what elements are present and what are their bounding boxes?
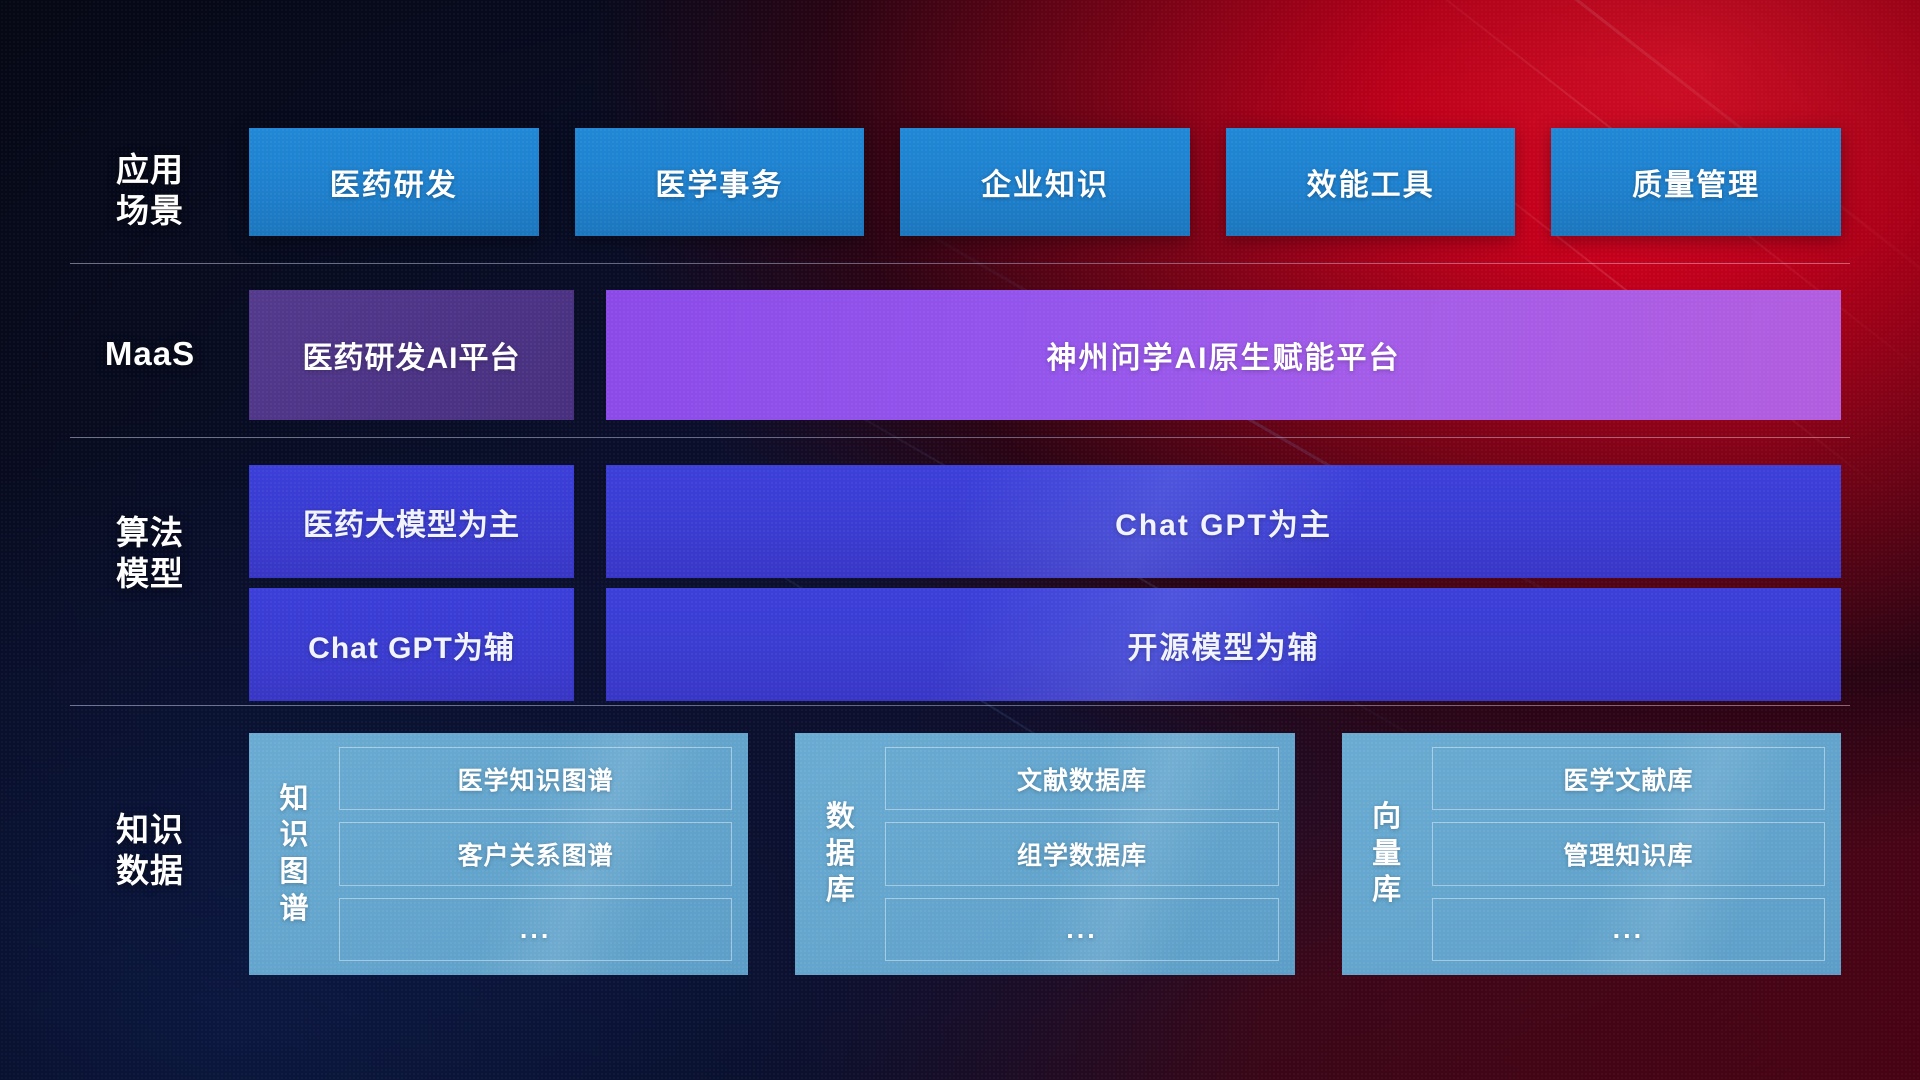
db-label-char-1: 数 xyxy=(826,799,855,836)
algo-box-opensource-secondary-label: 开源模型为辅 xyxy=(1128,623,1320,667)
app-box-efficiency-tools-label: 效能工具 xyxy=(1307,160,1435,204)
vs-label-char-1: 向 xyxy=(1372,799,1401,836)
tier-label-algorithm: 算法 模型 xyxy=(55,513,245,595)
kg-label-char-4: 谱 xyxy=(279,891,308,928)
knowledge-panel-knowledge-graph-items: 医学知识图谱 客户关系图谱 ... xyxy=(339,747,732,961)
app-box-enterprise-knowledge-label: 企业知识 xyxy=(981,160,1109,204)
algo-box-opensource-secondary[interactable]: 开源模型为辅 xyxy=(606,588,1841,701)
app-box-efficiency-tools[interactable]: 效能工具 xyxy=(1226,128,1516,236)
knowledge-panel-vector-store: 向 量 库 医学文献库 管理知识库 ... xyxy=(1342,733,1841,975)
kg-label-char-3: 图 xyxy=(279,854,308,891)
kd-item-medical-literature-store[interactable]: 医学文献库 xyxy=(1432,747,1825,810)
kd-item-literature-database[interactable]: 文献数据库 xyxy=(885,747,1278,810)
vs-label-char-2: 量 xyxy=(1372,836,1401,873)
app-box-enterprise-knowledge[interactable]: 企业知识 xyxy=(900,128,1190,236)
kd-item-customer-relation-graph[interactable]: 客户关系图谱 xyxy=(339,822,732,885)
maas-row: 医药研发AI平台 神州问学AI原生赋能平台 xyxy=(249,290,1841,420)
tier-label-knowledge-line2: 数据 xyxy=(55,851,245,892)
application-scenario-row: 医药研发 医学事务 企业知识 效能工具 质量管理 xyxy=(249,128,1841,236)
knowledge-panel-knowledge-graph-label: 知 识 图 谱 xyxy=(263,747,325,961)
tier-label-application-line1: 应用 xyxy=(55,150,245,191)
knowledge-panel-vector-store-label: 向 量 库 xyxy=(1356,747,1418,961)
tier-label-knowledge: 知识 数据 xyxy=(55,810,245,892)
divider-1 xyxy=(70,263,1850,264)
app-box-medical-affairs[interactable]: 医学事务 xyxy=(575,128,865,236)
diagram-content: 应用 场景 医药研发 医学事务 企业知识 效能工具 质量管理 MaaS 医药研发… xyxy=(0,0,1920,1080)
kg-label-char-1: 知 xyxy=(279,781,308,818)
tier-label-maas: MaaS xyxy=(55,334,245,375)
algo-box-pharma-llm-primary-label: 医药大模型为主 xyxy=(303,500,520,544)
app-box-quality-management[interactable]: 质量管理 xyxy=(1551,128,1841,236)
divider-3 xyxy=(70,705,1850,706)
kd-item-knowledge-graph-more[interactable]: ... xyxy=(339,898,732,961)
tier-label-application: 应用 场景 xyxy=(55,150,245,232)
algo-box-chatgpt-primary[interactable]: Chat GPT为主 xyxy=(606,465,1841,578)
app-box-drug-rd[interactable]: 医药研发 xyxy=(249,128,539,236)
kd-item-management-knowledge-store[interactable]: 管理知识库 xyxy=(1432,822,1825,885)
maas-box-drug-ai-platform-label: 医药研发AI平台 xyxy=(303,333,521,377)
vs-label-char-3: 库 xyxy=(1372,872,1401,909)
tier-label-knowledge-line1: 知识 xyxy=(55,810,245,851)
tier-label-maas-text: MaaS xyxy=(55,334,245,375)
app-box-medical-affairs-label: 医学事务 xyxy=(655,160,783,204)
kd-item-vector-store-more[interactable]: ... xyxy=(1432,898,1825,961)
knowledge-panel-knowledge-graph: 知 识 图 谱 医学知识图谱 客户关系图谱 ... xyxy=(249,733,748,975)
app-box-drug-rd-label: 医药研发 xyxy=(330,160,458,204)
algo-box-pharma-llm-primary[interactable]: 医药大模型为主 xyxy=(249,465,574,578)
kd-item-database-more[interactable]: ... xyxy=(885,898,1278,961)
knowledge-panel-database-label: 数 据 库 xyxy=(809,747,871,961)
algo-box-chatgpt-secondary[interactable]: Chat GPT为辅 xyxy=(249,588,574,701)
knowledge-panel-vector-store-items: 医学文献库 管理知识库 ... xyxy=(1432,747,1825,961)
maas-box-shenzhou-platform-label: 神州问学AI原生赋能平台 xyxy=(1047,333,1401,377)
architecture-diagram-slide: 应用 场景 医药研发 医学事务 企业知识 效能工具 质量管理 MaaS 医药研发… xyxy=(0,0,1920,1080)
app-box-quality-management-label: 质量管理 xyxy=(1632,160,1760,204)
maas-box-drug-ai-platform[interactable]: 医药研发AI平台 xyxy=(249,290,574,420)
algorithm-model-rows: 医药大模型为主 Chat GPT为主 Chat GPT为辅 开源模型为辅 xyxy=(249,465,1841,701)
tier-label-application-line2: 场景 xyxy=(55,191,245,232)
algo-box-chatgpt-secondary-label: Chat GPT为辅 xyxy=(308,623,515,667)
knowledge-panel-database-items: 文献数据库 组学数据库 ... xyxy=(885,747,1278,961)
tier-label-algorithm-line1: 算法 xyxy=(55,513,245,554)
db-label-char-3: 库 xyxy=(826,872,855,909)
divider-2 xyxy=(70,437,1850,438)
algorithm-row-primary: 医药大模型为主 Chat GPT为主 xyxy=(249,465,1841,578)
kg-label-char-2: 识 xyxy=(279,817,308,854)
algorithm-row-secondary: Chat GPT为辅 开源模型为辅 xyxy=(249,588,1841,701)
knowledge-panel-database: 数 据 库 文献数据库 组学数据库 ... xyxy=(795,733,1294,975)
db-label-char-2: 据 xyxy=(826,836,855,873)
maas-box-shenzhou-platform[interactable]: 神州问学AI原生赋能平台 xyxy=(606,290,1841,420)
knowledge-data-row: 知 识 图 谱 医学知识图谱 客户关系图谱 ... 数 据 库 xyxy=(249,733,1841,975)
algo-box-chatgpt-primary-label: Chat GPT为主 xyxy=(1115,500,1332,544)
kd-item-medical-knowledge-graph[interactable]: 医学知识图谱 xyxy=(339,747,732,810)
tier-label-algorithm-line2: 模型 xyxy=(55,554,245,595)
kd-item-omics-database[interactable]: 组学数据库 xyxy=(885,822,1278,885)
